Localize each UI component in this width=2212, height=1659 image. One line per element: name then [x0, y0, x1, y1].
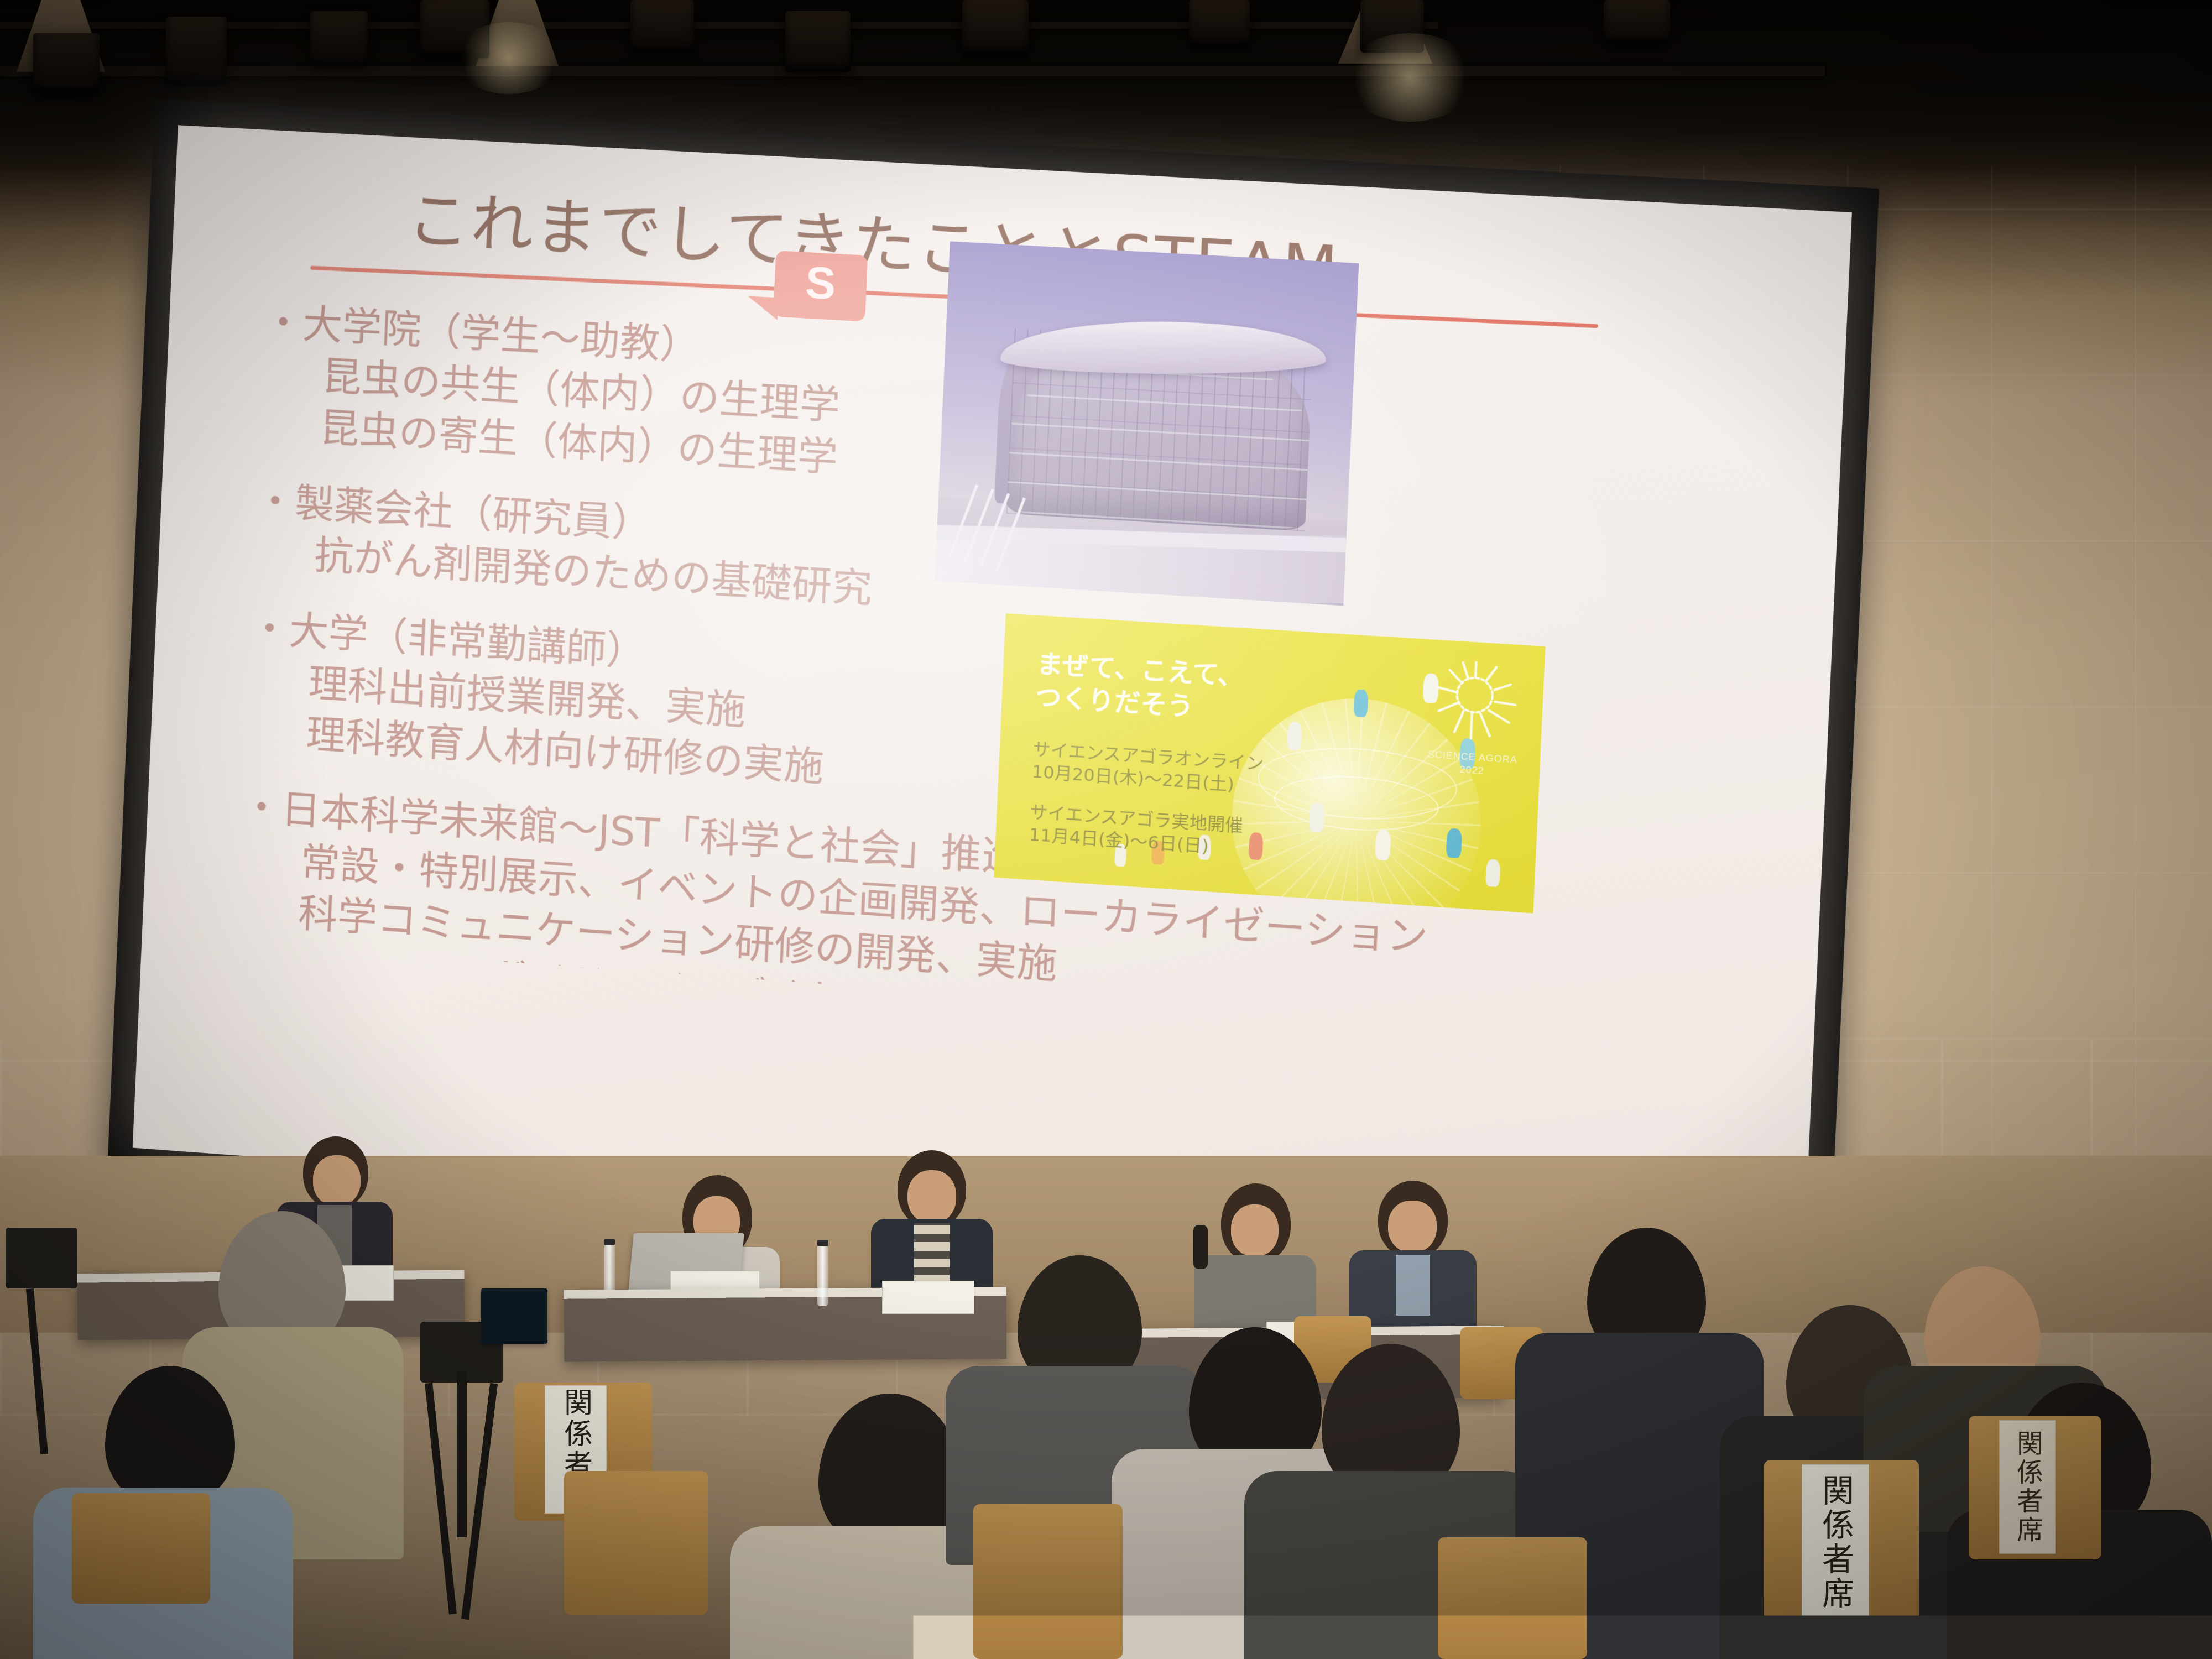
lamp-glow [453, 22, 564, 94]
screenshot-root: これまでしてきたこととSTEAM S ・大学院（学生～助教） 昆虫の共生（体内）… [0, 0, 2212, 1659]
lighting-truss [0, 66, 1825, 76]
stage-light-fixture [630, 0, 694, 53]
panelist-nameplate [882, 1281, 974, 1314]
audience-chair [1438, 1537, 1587, 1659]
agora-logo-text: SCIENCE AGORA [1428, 749, 1518, 765]
poster-event-online: サイエンスアゴラオンライン 10月20日(木)～22日(土) [1031, 738, 1264, 799]
stage-light-fixture [1604, 0, 1670, 44]
projection-screen: これまでしてきたこととSTEAM S ・大学院（学生～助教） 昆虫の共生（体内）… [107, 100, 1879, 1297]
miraikan-building-photo [935, 241, 1359, 606]
stage-light-fixture [166, 17, 227, 83]
handheld-microphone [1193, 1225, 1208, 1269]
poster-figure [1375, 829, 1391, 860]
panelist [1194, 1183, 1316, 1333]
audience-chair [973, 1504, 1123, 1659]
poster-figure [1446, 828, 1463, 858]
science-agora-logo-icon [1428, 654, 1525, 751]
poster-figure [1485, 859, 1501, 887]
reserved-seat-sign: 関係者席 [1999, 1420, 2056, 1554]
monitor-screen [481, 1288, 547, 1344]
stage-light-fixture [785, 11, 851, 72]
stage-light-fixture [1189, 0, 1250, 47]
poster-figure [1287, 721, 1302, 750]
tripod-column [457, 1371, 467, 1537]
steam-s-letter: S [774, 258, 868, 308]
science-agora-poster: まぜて、こえて、 つくりだそう サイエンスアゴラオンライン 10月20日(木)～… [994, 613, 1545, 913]
lamp-glow [1344, 33, 1477, 122]
panelist-face [313, 1155, 361, 1206]
stage-light-fixture [962, 0, 1029, 55]
agora-logo-year: 2022 [1459, 764, 1484, 776]
reserved-seat-sign: 関係者席 [1802, 1464, 1869, 1620]
bottle-cap [817, 1240, 828, 1246]
poster-figure [1248, 832, 1263, 860]
panelist-face [1231, 1204, 1279, 1256]
poster-event-onsite: サイエンスアゴラ実地開催 11月4日(金)～6日(日) [1029, 801, 1244, 860]
audience-chair [564, 1471, 708, 1615]
stage-light-fixture [310, 11, 368, 66]
panelist-shirt [1396, 1255, 1430, 1316]
panelist-face [1388, 1201, 1437, 1253]
poster-headline: まぜて、こえて、 つくりだそう [1035, 647, 1245, 726]
steam-s-badge: S [773, 251, 868, 322]
audience-chair [72, 1493, 210, 1604]
water-bottle [817, 1245, 828, 1306]
poster-figure [1353, 689, 1368, 717]
stage-light-fixture [33, 33, 100, 94]
poster-headline-line2: つくりだそう [1035, 681, 1194, 722]
video-camera-secondary [6, 1228, 77, 1288]
presentation-slide: これまでしてきたこととSTEAM S ・大学院（学生～助教） 昆虫の共生（体内）… [142, 125, 1852, 1052]
bottle-cap [604, 1239, 615, 1245]
panelist-face [907, 1170, 956, 1223]
poster-figure [1308, 802, 1325, 832]
